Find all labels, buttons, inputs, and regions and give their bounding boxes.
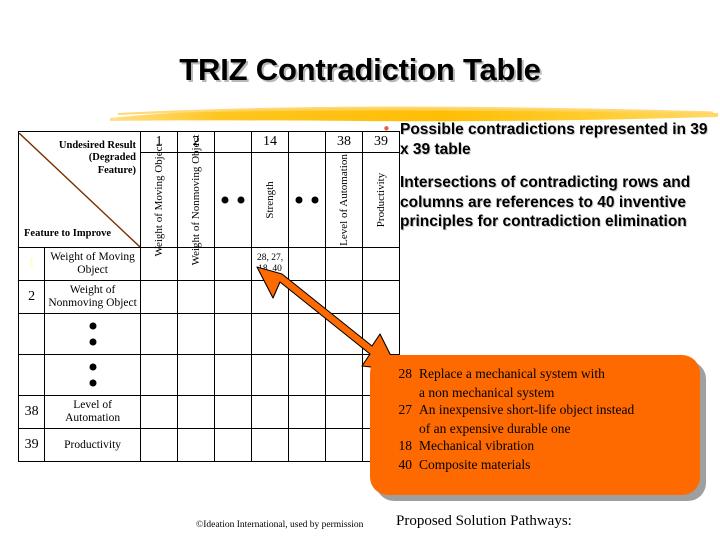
table-row-ellipsis (19, 314, 400, 355)
pathways-caption: Proposed Solution Pathways: (396, 513, 572, 530)
cell-r2-c3[interactable] (215, 281, 252, 314)
cell-r38-c1[interactable] (141, 396, 178, 429)
cell-r4-c3[interactable] (215, 355, 252, 396)
list-item: 18 Mechanical vibration (386, 437, 692, 455)
cell-r1-c38[interactable] (326, 248, 363, 281)
contradiction-matrix-table: Undesired Result (Degraded Feature) Feat… (18, 131, 400, 462)
cell-r2-c38[interactable] (326, 281, 363, 314)
row-index-blank-2[interactable] (19, 355, 45, 396)
list-item: 28 Replace a mechanical system with (386, 365, 692, 383)
vertical-dots-icon (89, 323, 96, 346)
solution-callout-box: 28 Replace a mechanical system with a no… (370, 355, 700, 495)
cell-r38-c3[interactable] (215, 396, 252, 429)
bullet-item-1: • Possible contradictions represented in… (382, 120, 718, 159)
cell-r4-c2[interactable] (178, 355, 215, 396)
principle-text-28-line1: Replace a mechanical system with (419, 365, 692, 383)
column-number-blank-2[interactable] (289, 132, 326, 153)
cell-r4-c1[interactable] (141, 355, 178, 396)
column-label-text: Weight of Nonmoving Object (190, 135, 203, 266)
cell-r4-c5[interactable] (289, 355, 326, 396)
cell-r2-c14[interactable] (252, 281, 289, 314)
column-label-level-of-automation: Level of Automation (326, 153, 363, 248)
list-item: 27 An inexpensive short-life object inst… (386, 401, 692, 419)
cell-r4-c38[interactable] (326, 355, 363, 396)
principle-text-40: Composite materials (419, 456, 692, 474)
cell-r2-c5[interactable] (289, 281, 326, 314)
bullet-text-2: Intersections of contradicting rows and … (400, 173, 718, 232)
row-ellipsis-dots-2 (45, 355, 141, 396)
column-number-blank-1[interactable] (215, 132, 252, 153)
column-label-strength: Strength (252, 153, 289, 248)
row-label-level-of-automation: Level of Automation (45, 396, 141, 429)
row-index-blank-1[interactable] (19, 314, 45, 355)
column-label-text: Level of Automation (338, 154, 351, 246)
page-title: TRIZ Contradiction Table (0, 52, 720, 88)
cell-r39-c1[interactable] (141, 429, 178, 462)
cell-r1-c3[interactable] (215, 248, 252, 281)
cell-r1-c5[interactable] (289, 248, 326, 281)
feature-to-improve-label: Feature to Improve (24, 228, 116, 241)
table-header-number-row: Undesired Result (Degraded Feature) Feat… (19, 132, 400, 153)
horizontal-dots-icon (222, 197, 245, 204)
cell-r4-c14[interactable] (252, 355, 289, 396)
principle-text-27-line1: An inexpensive short-life object instead (419, 401, 692, 419)
column-number-39[interactable]: 39 (363, 132, 400, 153)
cell-r3-c38[interactable] (326, 314, 363, 355)
cell-r1-c39[interactable] (363, 248, 400, 281)
cell-r38-c14[interactable] (252, 396, 289, 429)
table-row: 38 Level of Automation (19, 396, 400, 429)
undesired-result-label: Undesired Result (Degraded Feature) (50, 140, 136, 178)
bullet-list: • Possible contradictions represented in… (382, 120, 718, 246)
column-label-text: Strength (264, 181, 277, 218)
column-ellipsis-dots-2 (289, 153, 326, 248)
cell-r39-c3[interactable] (215, 429, 252, 462)
principle-number-27: 27 (386, 401, 419, 419)
cell-r3-c2[interactable] (178, 314, 215, 355)
table-row: 2 Weight of Nonmoving Object (19, 281, 400, 314)
principle-number-18: 18 (386, 437, 419, 455)
horizontal-dots-icon (296, 197, 319, 204)
cell-r38-c2[interactable] (178, 396, 215, 429)
cell-r39-c5[interactable] (289, 429, 326, 462)
column-label-text: Productivity (375, 173, 388, 227)
principle-text-28-line2: a non mechanical system (386, 384, 692, 402)
principle-number-40: 40 (386, 456, 419, 474)
principle-text-27-line2: of an expensive durable one (386, 420, 692, 438)
row-label-weight-moving-object: Weight of Moving Object (45, 248, 141, 281)
vertical-dots-icon (89, 364, 96, 387)
table-row-ellipsis (19, 355, 400, 396)
cell-r2-c39[interactable] (363, 281, 400, 314)
cell-r38-c38[interactable] (326, 396, 363, 429)
column-ellipsis-dots-1 (215, 153, 252, 248)
column-number-38[interactable]: 38 (326, 132, 363, 153)
row-index-38[interactable]: 38 (19, 396, 45, 429)
cell-r2-c1[interactable] (141, 281, 178, 314)
list-item: 40 Composite materials (386, 456, 692, 474)
table-row: 1 Weight of Moving Object 28, 27, 18, 40 (19, 248, 400, 281)
row-index-1[interactable]: 1 (19, 248, 45, 281)
row-label-productivity: Productivity (45, 429, 141, 462)
column-label-weight-nonmoving-object: Weight of Nonmoving Object (178, 153, 215, 248)
cell-r39-c38[interactable] (326, 429, 363, 462)
cell-r3-c5[interactable] (289, 314, 326, 355)
cell-r3-c3[interactable] (215, 314, 252, 355)
copyright-credit: ©Ideation International, used by permiss… (196, 520, 363, 530)
row-ellipsis-dots-1 (45, 314, 141, 355)
cell-r39-c2[interactable] (178, 429, 215, 462)
column-label-weight-moving-object: Weight of Moving Object (141, 153, 178, 248)
principle-text-18: Mechanical vibration (419, 437, 692, 455)
column-label-productivity: Productivity (363, 153, 400, 248)
row-index-2[interactable]: 2 (19, 281, 45, 314)
cell-r2-c2[interactable] (178, 281, 215, 314)
bullet-text-1: Possible contradictions represented in 3… (400, 120, 718, 159)
cell-r38-c5[interactable] (289, 396, 326, 429)
row-label-weight-nonmoving-object: Weight of Nonmoving Object (45, 281, 141, 314)
row-index-39[interactable]: 39 (19, 429, 45, 462)
cell-r3-c1[interactable] (141, 314, 178, 355)
principle-number-28: 28 (386, 365, 419, 383)
column-number-14[interactable]: 14 (252, 132, 289, 153)
column-label-text: Weight of Moving Object (153, 143, 166, 256)
bullet-item-2: • Intersections of contradicting rows an… (382, 173, 718, 232)
cell-r3-c39[interactable] (363, 314, 400, 355)
inventive-principles-list: 28 Replace a mechanical system with a no… (386, 365, 692, 474)
cell-r1-c14-highlighted[interactable]: 28, 27, 18, 40 (252, 248, 289, 281)
cell-r39-c14[interactable] (252, 429, 289, 462)
table-row: 39 Productivity (19, 429, 400, 462)
table-corner-cell: Undesired Result (Degraded Feature) Feat… (19, 132, 141, 248)
cell-r3-c14[interactable] (252, 314, 289, 355)
